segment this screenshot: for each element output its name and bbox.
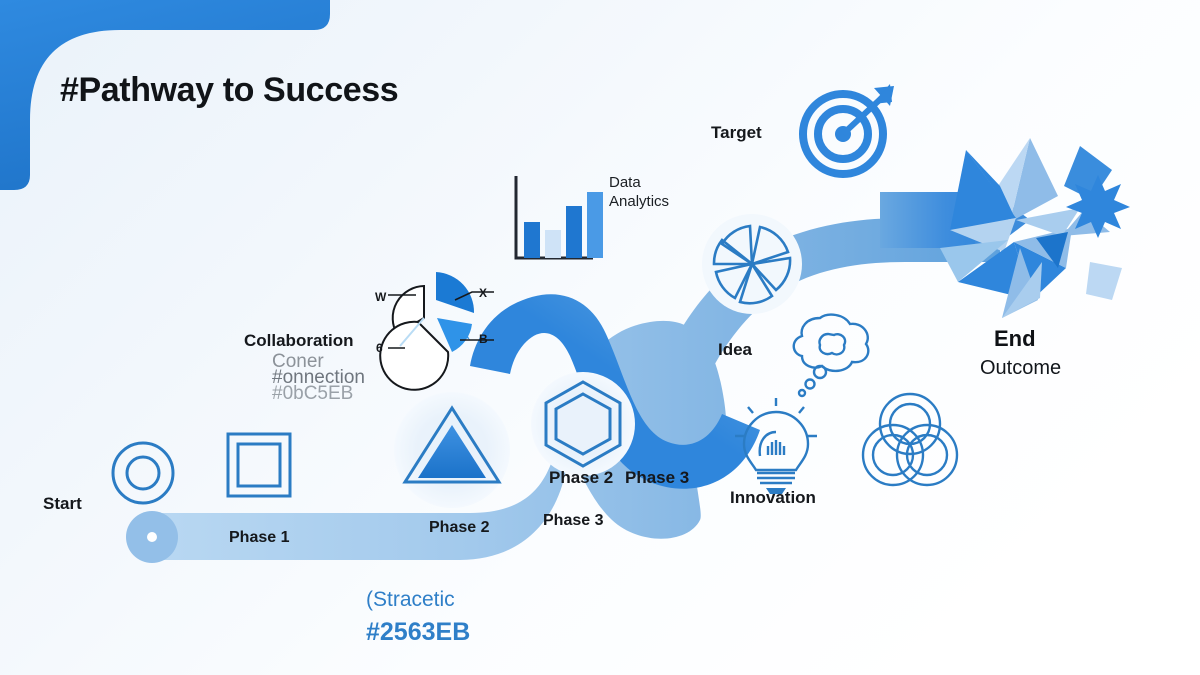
circle-dot-icon (113, 443, 173, 503)
collaboration-label: Collaboration (244, 331, 354, 351)
thought-cloud-icon (794, 315, 869, 396)
bar-3 (566, 206, 582, 258)
target-bullseye-icon (803, 84, 894, 174)
phase-3-halo (531, 372, 635, 476)
annotation-line-1: (Stracetic (366, 588, 455, 613)
start-label: Start (43, 494, 82, 514)
pie-letter-b: B (479, 332, 488, 346)
phase-2-halo (394, 392, 510, 508)
starburst-icon (940, 138, 1122, 318)
pie-letter-x: X (479, 286, 487, 300)
annotation-color-hex: #2563EB (366, 618, 470, 648)
lightbulb-icon (735, 398, 817, 494)
outcome-arrow (880, 178, 1030, 262)
end-label: End (994, 326, 1036, 352)
infographic-canvas: #Pathway to Success Start Phase 2 Phase … (0, 0, 1200, 675)
pie-letter-w: W (375, 290, 386, 304)
phase-2-node-label: Phase 2 (549, 468, 613, 488)
ribbon-label-phase-2: Phase 2 (429, 519, 489, 538)
bar-1 (524, 222, 540, 258)
page-title: #Pathway to Success (60, 70, 398, 110)
ribbon-label-phase-1: Phase 1 (229, 529, 289, 548)
target-label: Target (711, 123, 762, 143)
eight-point-star-icon (1066, 175, 1130, 238)
double-square-icon (228, 434, 290, 496)
ghost-text-line-3: #0bC5EB (272, 384, 353, 403)
outcome-label: Outcome (980, 357, 1061, 381)
bar-2 (545, 230, 561, 258)
data-analytics-line-2: Analytics (609, 193, 669, 210)
phase-3-node-label: Phase 3 (625, 468, 689, 488)
data-analytics-label: DataAnalytics (609, 173, 669, 211)
interlocking-rings-icon (863, 394, 957, 485)
idea-label: Idea (718, 340, 752, 360)
data-analytics-bar-chart (516, 176, 603, 258)
pie-letter-6: 6 (376, 341, 383, 355)
triangle-icon (405, 408, 499, 482)
innovation-label: Innovation (730, 488, 816, 508)
overlapping-ghost-text: Coner #onnection #0bC5EB (272, 352, 442, 406)
journey-ribbon-dark (470, 294, 760, 489)
idea-halo (702, 214, 802, 314)
bar-4 (587, 192, 603, 258)
ribbon-label-phase-3: Phase 3 (543, 512, 603, 531)
data-analytics-line-1: Data (609, 174, 641, 191)
double-hexagon-icon (546, 382, 620, 466)
pie-wheel-icon (714, 226, 790, 303)
